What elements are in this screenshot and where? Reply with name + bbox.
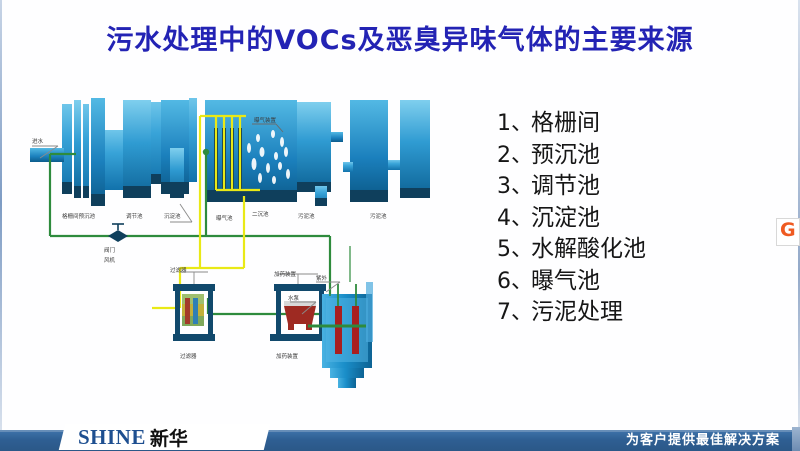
caption-settle: 沉淀池: [164, 212, 181, 220]
caption-blower: 风机: [104, 256, 116, 264]
caption-aeration-tank: 曝气池: [216, 214, 233, 222]
tank-sludge: [343, 100, 400, 202]
equipment-uv-reactor: [308, 246, 373, 388]
list-item-number: 4、: [497, 203, 531, 235]
caption-dosing: 加药装置: [276, 352, 299, 360]
list-item: 3、 调节池: [497, 171, 787, 203]
list-item: 6、 曝气池: [497, 266, 787, 298]
marker-glyph: G: [780, 221, 796, 240]
footer-tagline: 为客户提供最佳解决方案: [626, 429, 780, 448]
list-item-label: 污泥处理: [531, 297, 623, 329]
list-item-label: 调节池: [531, 171, 600, 203]
caption-sludge: 污泥池: [298, 212, 315, 220]
list-item-number: 5、: [497, 234, 531, 266]
green-node: [203, 149, 209, 155]
process-flow-diagram: 进水 曝气装置 格栅间预沉池 调节池 沉淀池 曝气池 二沉池 污泥池 污泥池 阀…: [30, 86, 450, 406]
slide-border-left: [0, 0, 2, 451]
caption-filter-top: 过滤器: [170, 266, 187, 274]
caption-valve: 阀门: [104, 246, 115, 254]
slide-canvas: 污水处理中的VOCs及恶臭异味气体的主要来源: [0, 0, 800, 451]
list-item: 1、 格栅间: [497, 108, 787, 140]
tank-settle: [161, 98, 197, 198]
caption-pump: 水泵: [288, 294, 300, 302]
caption-dosing-top: 加药装置: [274, 270, 297, 278]
diagram-svg: 进水 曝气装置 格栅间预沉池 调节池 沉淀池 曝气池 二沉池 污泥池 污泥池 阀…: [30, 86, 450, 406]
equipment-dosing: [270, 274, 330, 341]
list-item-label: 水解酸化池: [531, 234, 646, 266]
caption-grille: 格栅间预沉池: [62, 212, 96, 220]
list-item: 5、 水解酸化池: [497, 234, 787, 266]
caption-adjust: 调节池: [126, 212, 143, 220]
right-edge-marker: G: [776, 218, 800, 246]
caption-uv: 紫外: [316, 274, 328, 282]
tank-adjust: [105, 100, 161, 198]
list-item-label: 沉淀池: [531, 203, 600, 235]
tank-grille: [62, 98, 105, 206]
footer-right-tab: [792, 427, 800, 451]
tank-far-right: [400, 100, 430, 198]
list-item-label: 曝气池: [531, 266, 600, 298]
caption-filter: 过滤器: [180, 352, 197, 360]
logo-text-en: SHINE: [78, 425, 146, 450]
valve-icon: [108, 224, 128, 242]
logo-text-cn: 新华: [150, 424, 188, 451]
list-item: 4、 沉淀池: [497, 203, 787, 235]
caption-inlet: 进水: [32, 137, 44, 145]
page-title: 污水处理中的VOCs及恶臭异味气体的主要来源: [0, 18, 800, 57]
list-item: 2、 预沉池: [497, 140, 787, 172]
caption-aeration: 曝气装置: [254, 116, 277, 124]
slide-footer: SHINE 新华 为客户提供最佳解决方案: [0, 429, 800, 451]
list-item-number: 2、: [497, 140, 531, 172]
list-item-number: 1、: [497, 108, 531, 140]
caption-secondary: 二沉池: [252, 210, 269, 218]
list-item-label: 预沉池: [531, 140, 600, 172]
tank-secondary: [297, 102, 343, 206]
list-item-number: 3、: [497, 171, 531, 203]
caption-sludge-tank: 污泥池: [370, 212, 387, 220]
list-item: 7、 污泥处理: [497, 297, 787, 329]
list-item-label: 格栅间: [531, 108, 600, 140]
company-logo: SHINE 新华: [78, 426, 188, 448]
list-item-number: 6、: [497, 266, 531, 298]
list-item-number: 7、: [497, 297, 531, 329]
sources-list: 1、 格栅间 2、 预沉池 3、 调节池 4、 沉淀池 5、 水解酸化池 6、 …: [497, 108, 787, 329]
